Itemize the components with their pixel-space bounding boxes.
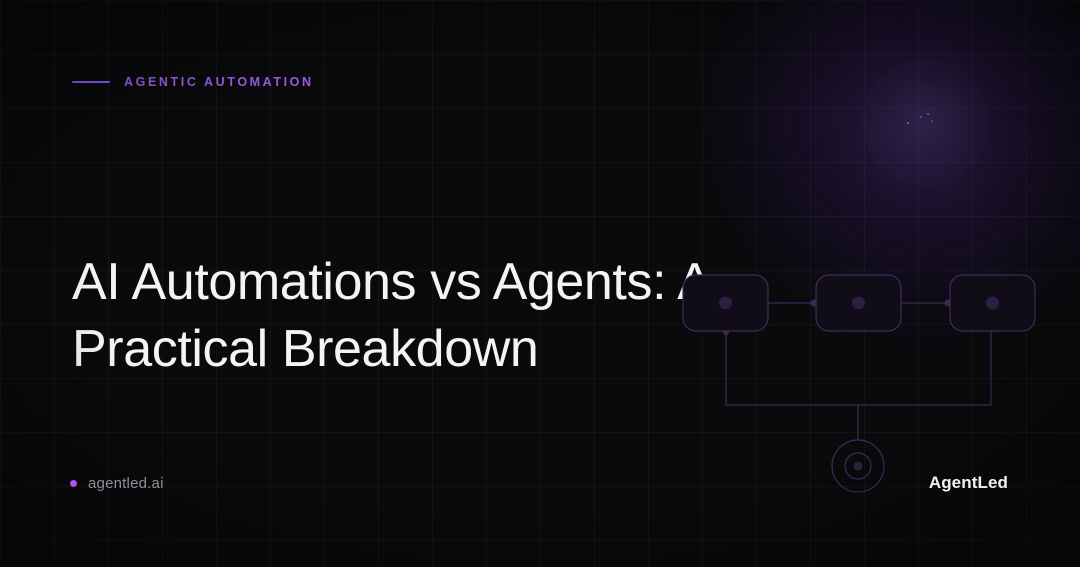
node-2 [816,275,901,331]
bullet-dot-icon [70,480,77,487]
sparkle-cluster [905,108,945,132]
purple-glow-core [862,58,990,186]
connector-arrow-dot [945,300,952,307]
horizontal-rule-icon [72,81,110,83]
hub-inner-ring [845,453,871,479]
hub-center-dot [854,462,863,471]
page-title: AI Automations vs Agents: A Practical Br… [72,249,772,383]
site-url: agentled.ai [70,472,164,494]
slide-canvas: AGENTIC AUTOMATION AI Automations vs Age… [0,0,1080,567]
hub-outer-ring [832,440,884,492]
eyebrow: AGENTIC AUTOMATION [72,73,314,91]
node-center-dot [986,297,999,310]
sparkle-icon [927,113,929,115]
brand-logotype: AgentLed [929,472,1008,494]
sparkle-icon [907,122,909,124]
eyebrow-label: AGENTIC AUTOMATION [124,75,314,89]
connector-arrow-dot [811,300,818,307]
sparkle-icon [931,120,933,122]
site-url-label: agentled.ai [88,475,164,492]
node-hub [832,440,884,492]
node-3 [950,275,1035,331]
sparkle-icon [920,116,922,118]
node-center-dot [852,297,865,310]
